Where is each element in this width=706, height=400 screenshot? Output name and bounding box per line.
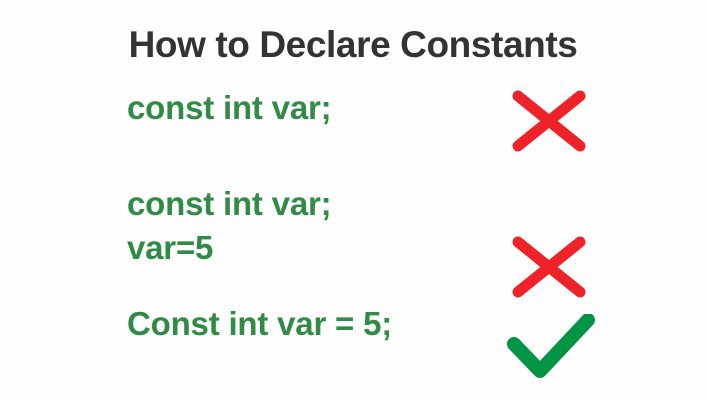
check-icon [500,314,590,380]
code-line: var=5 [127,229,213,266]
code-snippet: Const int var = 5; [127,302,497,346]
code-line: const int var; [127,185,331,222]
page-title: How to Declare Constants [0,23,706,67]
slide-canvas: How to Declare Constants const int var; … [0,0,706,400]
cross-icon [505,234,595,300]
code-snippet: const int var; [127,86,497,130]
cross-icon [505,88,595,154]
code-snippet: const int var;var=5 [127,182,497,270]
